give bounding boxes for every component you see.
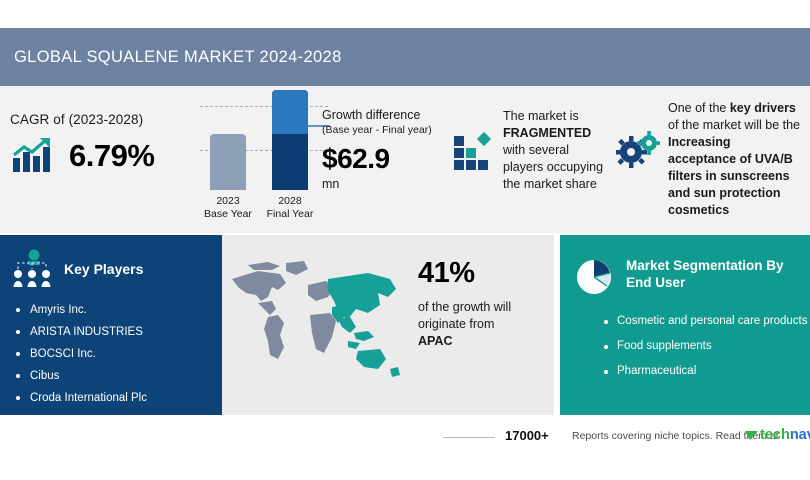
people-network-icon — [10, 249, 54, 289]
market-segmentation-list: Cosmetic and personal care products Food… — [560, 309, 810, 384]
growth-bar-chart: 2023 Base Year 2028 Final Year — [196, 98, 324, 223]
bar-label-final-year: 2028 Final Year — [258, 195, 322, 221]
list-item: Food supplements — [604, 334, 810, 359]
gears-icon — [616, 130, 660, 170]
region-growth-desc: of the growth will originate from APAC — [418, 299, 548, 350]
frag-bold: FRAGMENTED — [503, 126, 591, 140]
key-players-list: Amyris Inc. ARISTA INDUSTRIES BOCSCI Inc… — [0, 299, 222, 409]
growth-title: Growth difference — [322, 108, 462, 123]
market-fragmentation-block: The market is FRAGMENTED with several pl… — [452, 108, 612, 193]
region-growth-value: 41% — [418, 257, 548, 290]
list-item: Pharmaceutical — [604, 359, 810, 384]
key-players-title: Key Players — [64, 261, 143, 277]
region-growth-panel: 41% of the growth will originate from AP… — [222, 235, 554, 415]
bar-label-base-year: 2023 Base Year — [196, 195, 260, 221]
market-segmentation-title: Market Segmentation By End User — [626, 257, 810, 291]
drv-line-2: of the market will be the — [668, 118, 800, 132]
drv-bold-2: filters in sunscreens — [668, 169, 790, 183]
bar-base-year — [210, 134, 246, 190]
top-stats-strip: CAGR of (2023-2028) 6.79% — [0, 86, 810, 233]
list-item: Cibus — [16, 365, 222, 387]
region-growth-text: 41% of the growth will originate from AP… — [418, 257, 548, 350]
growth-unit: mn — [322, 177, 462, 191]
key-drivers-block: One of the key drivers of the market wil… — [616, 100, 810, 219]
frag-line-1: The market is — [503, 109, 579, 123]
region-name: APAC — [418, 334, 453, 348]
frag-line-2: with several — [503, 143, 569, 157]
drv-bold-3: and sun protection — [668, 186, 781, 200]
page-footer: 17000+ Reports covering niche topics. Re… — [0, 415, 810, 460]
pie-chart-icon — [574, 257, 614, 297]
cagr-value: 6.79% — [69, 138, 154, 174]
infographic-page: GLOBAL SQUALENE MARKET 2024-2028 CAGR of… — [0, 0, 810, 480]
market-segmentation-panel: Market Segmentation By End User Cosmetic… — [560, 235, 810, 415]
report-count: 17000+ — [505, 428, 549, 443]
frag-line-3: players occupying — [503, 160, 603, 174]
key-players-panel: Key Players Amyris Inc. ARISTA INDUSTRIE… — [0, 235, 222, 415]
key-drivers-text: One of the key drivers of the market wil… — [668, 100, 800, 219]
squares-grid-icon — [452, 130, 494, 170]
drv-line-1-pre: One of the — [668, 101, 730, 115]
drv-bold-4: cosmetics — [668, 203, 729, 217]
region-line-2: originate from — [418, 317, 494, 331]
region-line-1: of the growth will — [418, 300, 511, 314]
logo-text-green: tech — [760, 427, 790, 443]
list-item: Amyris Inc. — [16, 299, 222, 321]
bar-final-year — [272, 90, 308, 190]
list-item: Croda International Plc — [16, 387, 222, 409]
cagr-label: CAGR of (2023-2028) — [10, 112, 200, 127]
list-item: ARISTA INDUSTRIES — [16, 321, 222, 343]
gridline-top — [200, 106, 328, 107]
technavio-logo[interactable]: technavi — [745, 427, 810, 443]
growth-subtitle: (Base year - Final year) — [322, 123, 462, 137]
drv-bold-0: Increasing — [668, 135, 731, 149]
cagr-block: CAGR of (2023-2028) 6.79% — [10, 112, 200, 176]
middle-row: Key Players Amyris Inc. ARISTA INDUSTRIE… — [0, 235, 810, 415]
frag-line-4: the market share — [503, 177, 597, 191]
page-title: GLOBAL SQUALENE MARKET 2024-2028 — [0, 48, 342, 67]
footer-divider — [443, 437, 495, 438]
list-item: BOCSCI Inc. — [16, 343, 222, 365]
logo-text-blue: navi — [790, 427, 810, 443]
market-fragmentation-text: The market is FRAGMENTED with several pl… — [503, 108, 603, 193]
growth-difference-block: Growth difference (Base year - Final yea… — [322, 108, 462, 191]
list-item: Cosmetic and personal care products — [604, 309, 810, 334]
growth-value: $62.9 — [322, 143, 462, 175]
technavio-wordmark: technavi — [760, 427, 810, 443]
world-map-graphic — [228, 257, 418, 387]
technavio-arrow-icon — [745, 429, 758, 442]
drv-bold-1: acceptance of UVA/B — [668, 152, 793, 166]
drv-line-1-bold: key drivers — [730, 101, 796, 115]
page-header: GLOBAL SQUALENE MARKET 2024-2028 — [0, 28, 810, 86]
bar-chart-growth-icon — [10, 136, 56, 176]
